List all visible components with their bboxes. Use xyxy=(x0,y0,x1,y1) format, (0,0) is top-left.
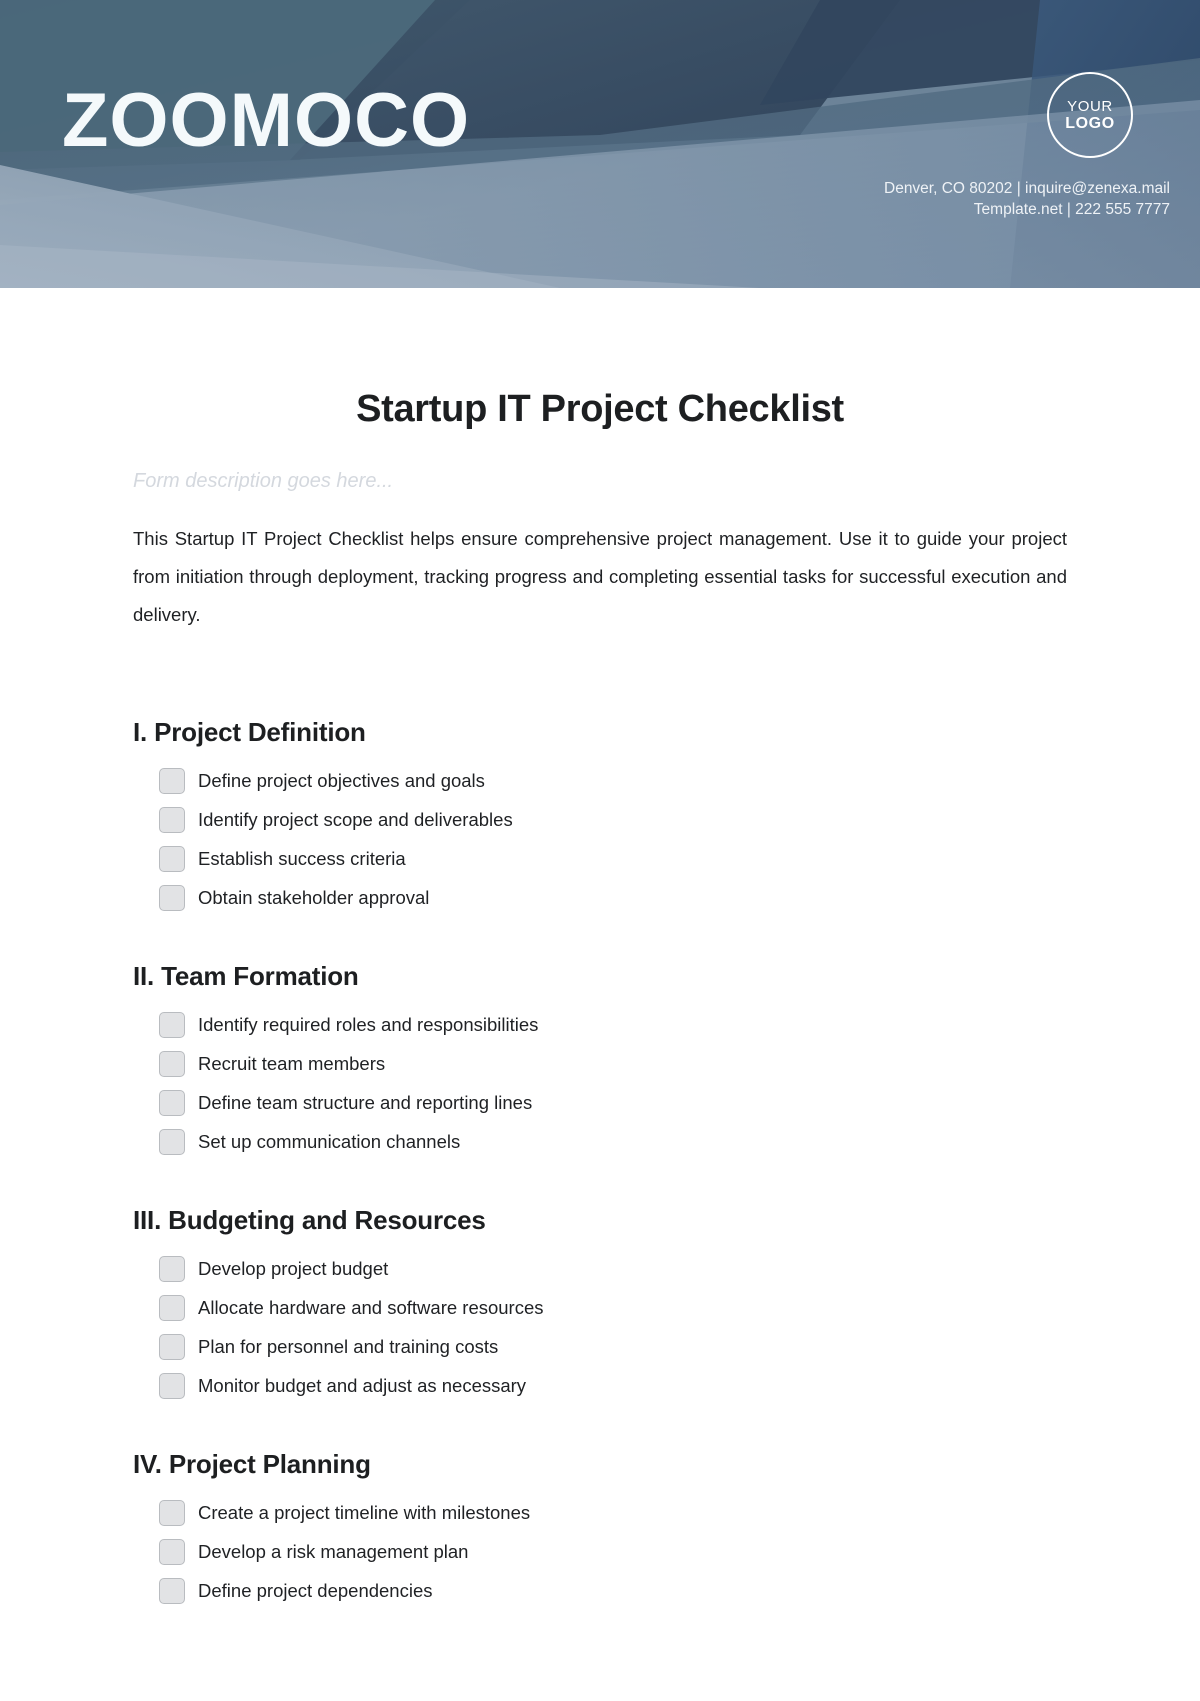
item-label: Develop project budget xyxy=(198,1256,388,1282)
contact-info: Denver, CO 80202 | inquire@zenexa.mail T… xyxy=(884,178,1170,220)
item-label: Monitor budget and adjust as necessary xyxy=(198,1373,526,1399)
brand-wordmark: ZOOMOCO xyxy=(62,78,470,164)
list-item[interactable]: Create a project timeline with milestone… xyxy=(159,1493,1067,1532)
checklist-section: III. Budgeting and Resources Develop pro… xyxy=(133,1203,1067,1405)
item-label: Recruit team members xyxy=(198,1051,385,1077)
list-item[interactable]: Establish success criteria xyxy=(159,839,1067,878)
intro-paragraph: This Startup IT Project Checklist helps … xyxy=(133,493,1067,634)
item-label: Identify required roles and responsibili… xyxy=(198,1012,538,1038)
contact-line-1: Denver, CO 80202 | inquire@zenexa.mail xyxy=(884,178,1170,199)
checkbox-unchecked-icon[interactable] xyxy=(159,1090,185,1116)
list-item[interactable]: Identify project scope and deliverables xyxy=(159,800,1067,839)
checklist-section: I. Project Definition Define project obj… xyxy=(133,715,1067,917)
checklist-items: Create a project timeline with milestone… xyxy=(133,1493,1067,1610)
checkbox-unchecked-icon[interactable] xyxy=(159,846,185,872)
checklist-items: Develop project budget Allocate hardware… xyxy=(133,1249,1067,1405)
item-label: Obtain stakeholder approval xyxy=(198,885,429,911)
checkbox-unchecked-icon[interactable] xyxy=(159,1012,185,1038)
checklist-sections: I. Project Definition Define project obj… xyxy=(133,634,1067,1610)
checklist-items: Define project objectives and goals Iden… xyxy=(133,761,1067,917)
header-banner: ZOOMOCO YOUR LOGO Denver, CO 80202 | inq… xyxy=(0,0,1200,288)
item-label: Establish success criteria xyxy=(198,846,406,872)
contact-line-2: Template.net | 222 555 7777 xyxy=(884,199,1170,220)
checklist-items: Identify required roles and responsibili… xyxy=(133,1005,1067,1161)
list-item[interactable]: Develop a risk management plan xyxy=(159,1532,1067,1571)
list-item[interactable]: Obtain stakeholder approval xyxy=(159,878,1067,917)
checkbox-unchecked-icon[interactable] xyxy=(159,1500,185,1526)
section-heading: II. Team Formation xyxy=(133,959,1067,993)
your-logo-badge: YOUR LOGO xyxy=(1047,72,1133,158)
item-label: Develop a risk management plan xyxy=(198,1539,468,1565)
list-item[interactable]: Develop project budget xyxy=(159,1249,1067,1288)
item-label: Define project dependencies xyxy=(198,1578,433,1604)
section-heading: III. Budgeting and Resources xyxy=(133,1203,1067,1237)
logo-line-1: YOUR xyxy=(1067,98,1113,115)
logo-line-2: LOGO xyxy=(1065,115,1115,133)
item-label: Identify project scope and deliverables xyxy=(198,807,513,833)
checkbox-unchecked-icon[interactable] xyxy=(159,885,185,911)
checkbox-unchecked-icon[interactable] xyxy=(159,1334,185,1360)
list-item[interactable]: Define project objectives and goals xyxy=(159,761,1067,800)
item-label: Plan for personnel and training costs xyxy=(198,1334,498,1360)
item-label: Define team structure and reporting line… xyxy=(198,1090,532,1116)
item-label: Create a project timeline with milestone… xyxy=(198,1500,530,1526)
checklist-section: IV. Project Planning Create a project ti… xyxy=(133,1447,1067,1610)
checkbox-unchecked-icon[interactable] xyxy=(159,1539,185,1565)
form-description-placeholder: Form description goes here... xyxy=(133,431,1067,493)
item-label: Set up communication channels xyxy=(198,1129,460,1155)
checkbox-unchecked-icon[interactable] xyxy=(159,1256,185,1282)
list-item[interactable]: Define project dependencies xyxy=(159,1571,1067,1610)
list-item[interactable]: Set up communication channels xyxy=(159,1122,1067,1161)
checkbox-unchecked-icon[interactable] xyxy=(159,1129,185,1155)
section-heading: I. Project Definition xyxy=(133,715,1067,749)
page-title: Startup IT Project Checklist xyxy=(133,288,1067,431)
checkbox-unchecked-icon[interactable] xyxy=(159,1578,185,1604)
section-heading: IV. Project Planning xyxy=(133,1447,1067,1481)
checkbox-unchecked-icon[interactable] xyxy=(159,768,185,794)
checklist-section: II. Team Formation Identify required rol… xyxy=(133,959,1067,1161)
checkbox-unchecked-icon[interactable] xyxy=(159,807,185,833)
list-item[interactable]: Plan for personnel and training costs xyxy=(159,1327,1067,1366)
list-item[interactable]: Recruit team members xyxy=(159,1044,1067,1083)
list-item[interactable]: Define team structure and reporting line… xyxy=(159,1083,1067,1122)
item-label: Allocate hardware and software resources xyxy=(198,1295,544,1321)
list-item[interactable]: Identify required roles and responsibili… xyxy=(159,1005,1067,1044)
item-label: Define project objectives and goals xyxy=(198,768,485,794)
list-item[interactable]: Monitor budget and adjust as necessary xyxy=(159,1366,1067,1405)
document-body: Startup IT Project Checklist Form descri… xyxy=(0,288,1200,1610)
checkbox-unchecked-icon[interactable] xyxy=(159,1373,185,1399)
list-item[interactable]: Allocate hardware and software resources xyxy=(159,1288,1067,1327)
checkbox-unchecked-icon[interactable] xyxy=(159,1295,185,1321)
checkbox-unchecked-icon[interactable] xyxy=(159,1051,185,1077)
